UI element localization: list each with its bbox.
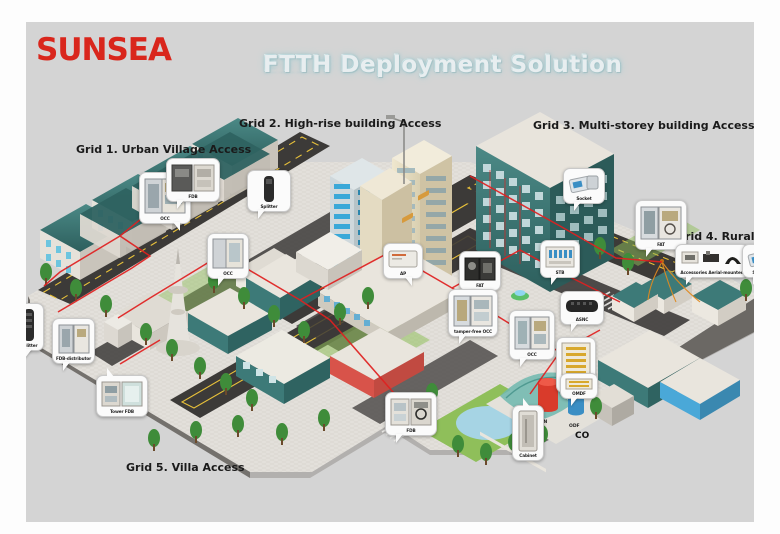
tube-black-icon: [564, 295, 600, 317]
page-title: FTTH Deployment Solution: [263, 52, 622, 78]
callout-tamper-free-occ[interactable]: tamper-free OCC: [448, 289, 498, 337]
callout-splitter-urban[interactable]: Splitter: [247, 170, 291, 212]
callout-label: FDB: [188, 195, 197, 200]
callout-fat-highrise[interactable]: FAT: [459, 251, 501, 291]
fat-unit-icon: [463, 255, 497, 283]
callout-label: Tower FDB: [110, 410, 134, 415]
callout-tower-fdb[interactable]: Tower FDB: [96, 375, 148, 417]
socket-unit-icon: [567, 172, 601, 196]
stb-unit-icon: [544, 244, 576, 270]
callout-accessories[interactable]: Accessories Aerial-mounted: [675, 244, 749, 278]
callout-ap-highrise[interactable]: AP: [383, 243, 423, 279]
box-duo-icon: [389, 396, 433, 428]
callout-label: FAT: [657, 243, 665, 248]
cabinet-open-icon: [452, 293, 494, 329]
callout-omdf-co[interactable]: OMDF: [560, 373, 598, 399]
grid-label-2: Grid 2. High-rise building Access: [239, 117, 441, 130]
callout-fdb-distributor[interactable]: FDB-distributor: [52, 318, 95, 364]
callout-fdb-villa[interactable]: FDB: [385, 392, 437, 436]
grid-label-5: Grid 5. Villa Access: [126, 461, 245, 474]
accessories-icon: [679, 248, 745, 270]
tube-black-icon: [251, 174, 287, 204]
callout-fat-rural[interactable]: FAT: [635, 200, 687, 250]
callout-socket-multi[interactable]: Socket: [563, 168, 605, 204]
cabinet-open-icon: [639, 204, 683, 242]
callout-label: OCC: [527, 353, 536, 358]
callout-label: Cabinet: [519, 454, 536, 459]
callout-occ-street[interactable]: OCC: [207, 233, 249, 279]
map-label-odf: ODF: [569, 424, 580, 429]
rack-frame-icon: [564, 377, 594, 391]
page-edge-left: [0, 0, 26, 534]
callout-label: FDB: [406, 429, 415, 434]
callout-cabinet-co[interactable]: Cabinet: [512, 405, 544, 461]
callout-label: OCC: [160, 217, 169, 222]
grid-label-3: Grid 3. Multi-storey building Access: [533, 119, 755, 132]
callout-label: FDB-distributor: [56, 357, 91, 362]
cabinet-open-icon: [211, 237, 245, 271]
callout-stb-highrise[interactable]: STB: [540, 240, 580, 278]
map-label-co: CO: [575, 431, 589, 441]
box-duo-icon: [57, 322, 91, 356]
ftth-deployment-diagram: SUNSEA FTTH Deployment Solution FTTH Dep…: [0, 0, 780, 534]
callout-occ-lower[interactable]: OCC: [509, 310, 555, 360]
sunsea-logo: SUNSEA: [36, 32, 171, 68]
grid-label-1: Grid 1. Urban Village Access: [76, 143, 251, 156]
box-duo-icon: [100, 379, 144, 409]
cabinet-tall-icon: [516, 409, 540, 453]
cabinet-open-icon: [513, 314, 551, 352]
callout-fdb-urban[interactable]: FDB: [166, 158, 220, 202]
ap-unit-icon: [387, 247, 419, 271]
page-edge-right: [754, 0, 780, 534]
box-duo-icon: [170, 162, 216, 194]
callout-asnc[interactable]: ASNC: [560, 291, 604, 325]
